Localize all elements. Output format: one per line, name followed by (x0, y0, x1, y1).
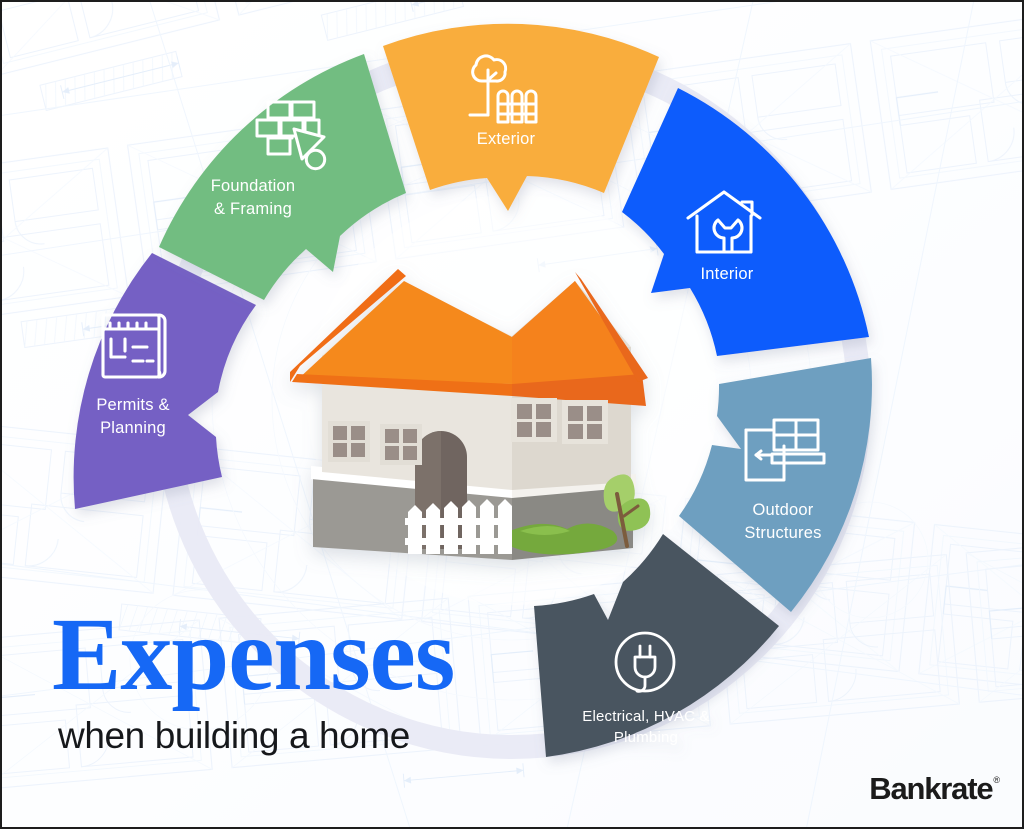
interior-label: Interior (701, 265, 754, 283)
electrical-hvac-plumbing-label-line-2: Plumbing (614, 729, 678, 746)
permits-planning-label-line-2: Planning (100, 419, 166, 437)
bankrate-logo: Bankrate ® (869, 771, 1000, 807)
permits-planning-shape (74, 253, 256, 509)
page-title: Expenses (52, 606, 454, 705)
foundation-framing-label-line-2: & Framing (214, 200, 292, 218)
wheel-segment-interior[interactable]: Interior (622, 88, 869, 356)
permits-planning-label-line-1: Permits & (96, 396, 169, 414)
wheel-segment-foundation-framing[interactable]: Foundation & Framing (159, 54, 406, 300)
interior-shape (622, 88, 869, 356)
outdoor-structures-label-line-2: Structures (744, 524, 821, 542)
title-block: Expenses when building a home (52, 606, 454, 757)
logo-wordmark: Bankrate (869, 771, 992, 807)
wheel-segment-permits-planning[interactable]: Permits & Planning (74, 253, 256, 509)
page-subtitle: when building a home (58, 715, 454, 757)
logo-trademark-icon: ® (993, 775, 1000, 785)
outdoor-structures-label-line-1: Outdoor (752, 501, 813, 519)
electrical-hvac-plumbing-label-line-1: Electrical, HVAC & (582, 708, 710, 725)
exterior-label: Exterior (477, 130, 536, 148)
infographic-canvas: Permits & Planning Foundation & Framing (0, 0, 1024, 829)
foundation-framing-label-line-1: Foundation (211, 177, 296, 195)
wheel-segment-exterior[interactable]: Exterior (383, 24, 659, 211)
